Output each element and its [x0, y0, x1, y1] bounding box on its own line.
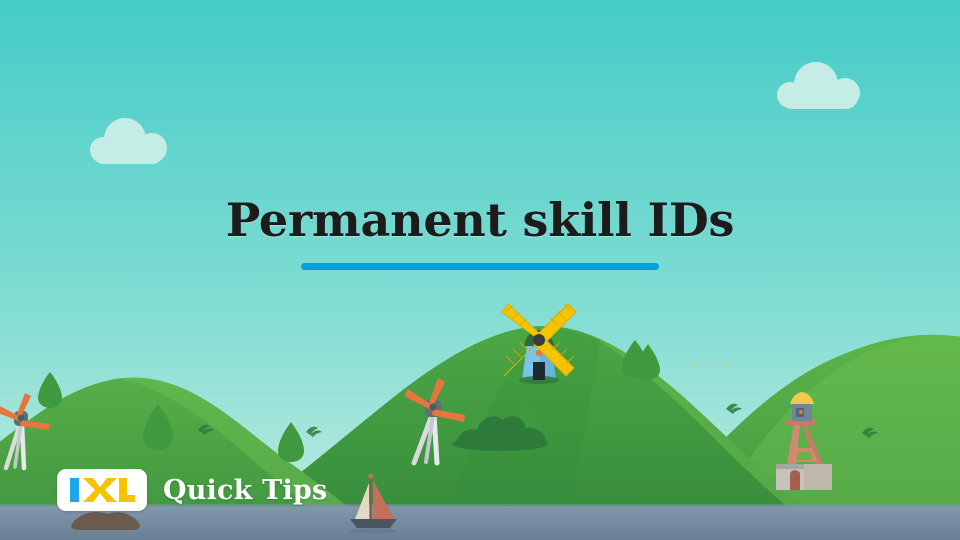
brand-lockup[interactable]: Quick Tips: [57, 469, 327, 511]
brand-label: Quick Tips: [163, 475, 327, 506]
water: [0, 506, 960, 540]
background-illustration: [0, 0, 960, 540]
slide-canvas: Permanent skill IDs Quick Tips: [0, 0, 960, 540]
ixl-logo-icon: [69, 477, 135, 503]
ixl-logo[interactable]: [57, 469, 147, 511]
